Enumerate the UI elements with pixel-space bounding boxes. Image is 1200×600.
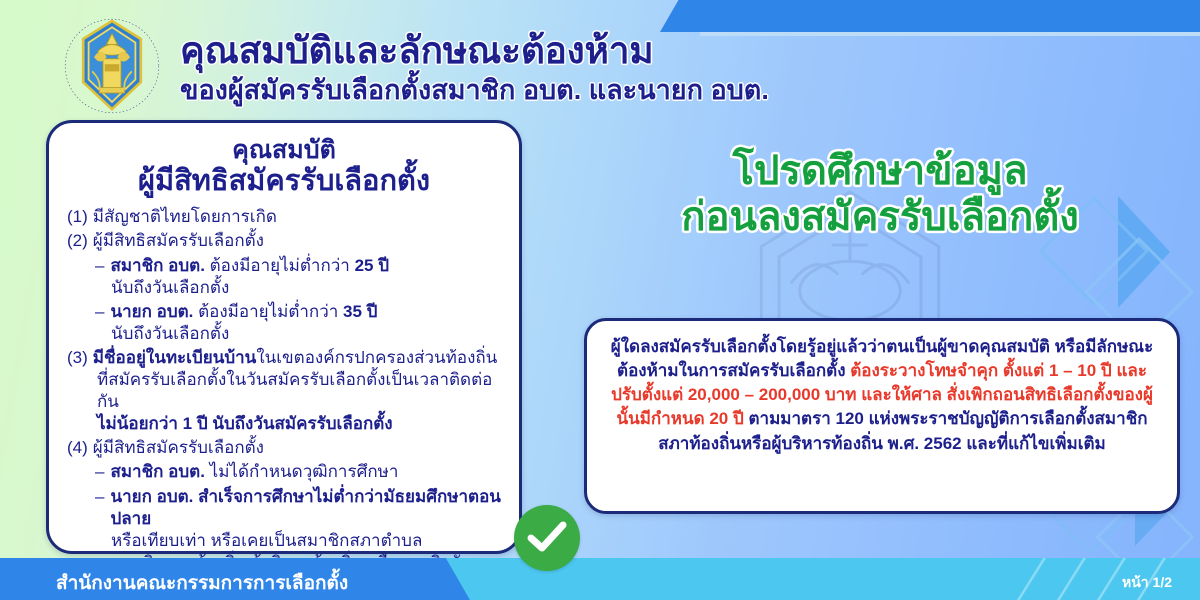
item-continuation-bold: ไม่น้อยกว่า 1 ปี นับถึงวันสมัครรับเลือกต… [97,413,501,435]
item-continuation: ที่สมัครรับเลือกตั้งในวันสมัครรับเลือกตั… [97,369,501,413]
headline-line1: โปรดศึกษาข้อมูล [732,149,1027,193]
item-text: ผู้มีสิทธิสมัครรับเลือกตั้ง [93,437,501,459]
item-number: (1) [67,206,88,228]
sub-item-text: นายก อบต. ต้องมีอายุไม่ต่ำกว่า 35 ปี [110,301,501,323]
header-text-block: คุณสมบัติและลักษณะต้องห้าม ของผู้สมัครรั… [180,26,769,106]
sub-item-mid: ไม่ได้กำหนดวุฒิการศึกษา [205,462,398,481]
sub-item-bold-tail: 25 ปี [355,256,389,275]
footer-page-indicator: หน้า 1/2 [1122,572,1172,594]
item-text: มีสัญชาติไทยโดยการเกิด [93,206,501,228]
dash-bullet: – [95,461,104,483]
sub-item: – สมาชิก อบต. ต้องมีอายุไม่ต่ำกว่า 25 ปี [95,255,501,277]
item-bold-lead: มีชื่ออยู่ในทะเบียนบ้าน [93,348,257,367]
penalty-notice-box: ผู้ใดลงสมัครรับเลือกตั้งโดยรู้อยู่แล้วว่… [584,318,1180,514]
item-continuation: หรือเทียบเท่า หรือเคยเป็นสมาชิกสภาตำบล [111,530,501,552]
sub-item-text: นายก อบต. สำเร็จการศึกษาไม่ต่ำกว่ามัธยมศ… [110,486,501,530]
item-text: ผู้มีสิทธิสมัครรับเลือกตั้ง [93,230,501,252]
card-title-line1: คุณสมบัติ [67,137,501,165]
sub-item-bold-lead: สมาชิก อบต. [110,462,204,481]
header: คุณสมบัติและลักษณะต้องห้าม ของผู้สมัครรั… [58,12,769,120]
card-title: คุณสมบัติ ผู้มีสิทธิสมัครรับเลือกตั้ง [67,137,501,197]
dash-bullet: – [95,486,104,530]
sub-item: – นายก อบต. ต้องมีอายุไม่ต่ำกว่า 35 ปี [95,301,501,323]
green-headline: โปรดศึกษาข้อมูล ก่อนลงสมัครรับเลือกตั้ง [575,148,1185,241]
headline-line2: ก่อนลงสมัครรับเลือกตั้ง [575,194,1185,240]
item-text: มีชื่ออยู่ในทะเบียนบ้านในเขตองค์กรปกครอง… [93,347,501,369]
footer-bar: สำนักงานคณะกรรมการการเลือกตั้ง หน้า 1/2 [0,558,1200,600]
card-title-line2: ผู้มีสิทธิสมัครรับเลือกตั้ง [67,166,501,198]
list-item: (3) มีชื่ออยู่ในทะเบียนบ้านในเขตองค์กรปก… [67,347,501,435]
sub-item-mid: ต้องมีอายุไม่ต่ำกว่า [193,302,343,321]
qualifications-card: คุณสมบัติ ผู้มีสิทธิสมัครรับเลือกตั้ง (1… [46,120,522,554]
sub-item-continuation: นับถึงวันเลือกตั้ง [111,277,501,299]
top-bar-thin-line [700,32,1200,36]
infographic-poster: คุณสมบัติและลักษณะต้องห้าม ของผู้สมัครรั… [0,0,1200,600]
list-item: (2) ผู้มีสิทธิสมัครรับเลือกตั้ง – สมาชิก… [67,230,501,344]
dash-bullet: – [95,255,104,277]
item-number: (2) [67,230,88,252]
sub-item: – สมาชิก อบต. ไม่ได้กำหนดวุฒิการศึกษา [95,461,501,483]
dash-bullet: – [95,301,104,323]
sub-item: – นายก อบต. สำเร็จการศึกษาไม่ต่ำกว่ามัธย… [95,486,501,530]
item-number: (4) [67,437,88,459]
sub-item-bold-lead: นายก อบต. สำเร็จการศึกษาไม่ต่ำกว่ามัธยมศ… [110,487,500,528]
sub-item-bold-lead: สมาชิก อบต. [110,256,204,275]
qualifications-list: (1) มีสัญชาติไทยโดยการเกิด (2) ผู้มีสิทธ… [67,206,501,574]
sub-item-bold-tail: 35 ปี [343,302,377,321]
penalty-notice-text: ผู้ใดลงสมัครรับเลือกตั้งโดยรู้อยู่แล้วว่… [607,335,1157,456]
item-continuation-bold-text: ไม่น้อยกว่า 1 ปี นับถึงวันสมัครรับเลือกต… [97,414,393,433]
poster-title-line2: ของผู้สมัครรับเลือกตั้งสมาชิก อบต. และนา… [180,74,769,106]
list-item: (1) มีสัญชาติไทยโดยการเกิด [67,206,501,228]
poster-title-line1: คุณสมบัติและลักษณะต้องห้าม [180,30,769,71]
sub-item-mid: ต้องมีอายุไม่ต่ำกว่า [205,256,355,275]
sub-item-continuation: นับถึงวันเลือกตั้ง [111,323,501,345]
item-number: (3) [67,347,88,369]
item-rest: ในเขตองค์กรปกครองส่วนท้องถิ่น [256,348,497,367]
election-commission-emblem-icon [58,12,166,120]
list-item: (4) ผู้มีสิทธิสมัครรับเลือกตั้ง – สมาชิก… [67,437,501,574]
check-circle-icon [514,505,580,571]
sub-item-bold-lead: นายก อบต. [110,302,193,321]
footer-organization-name: สำนักงานคณะกรรมการการเลือกตั้ง [56,568,348,598]
sub-item-text: สมาชิก อบต. ต้องมีอายุไม่ต่ำกว่า 25 ปี [110,255,501,277]
sub-item-text: สมาชิก อบต. ไม่ได้กำหนดวุฒิการศึกษา [110,461,501,483]
